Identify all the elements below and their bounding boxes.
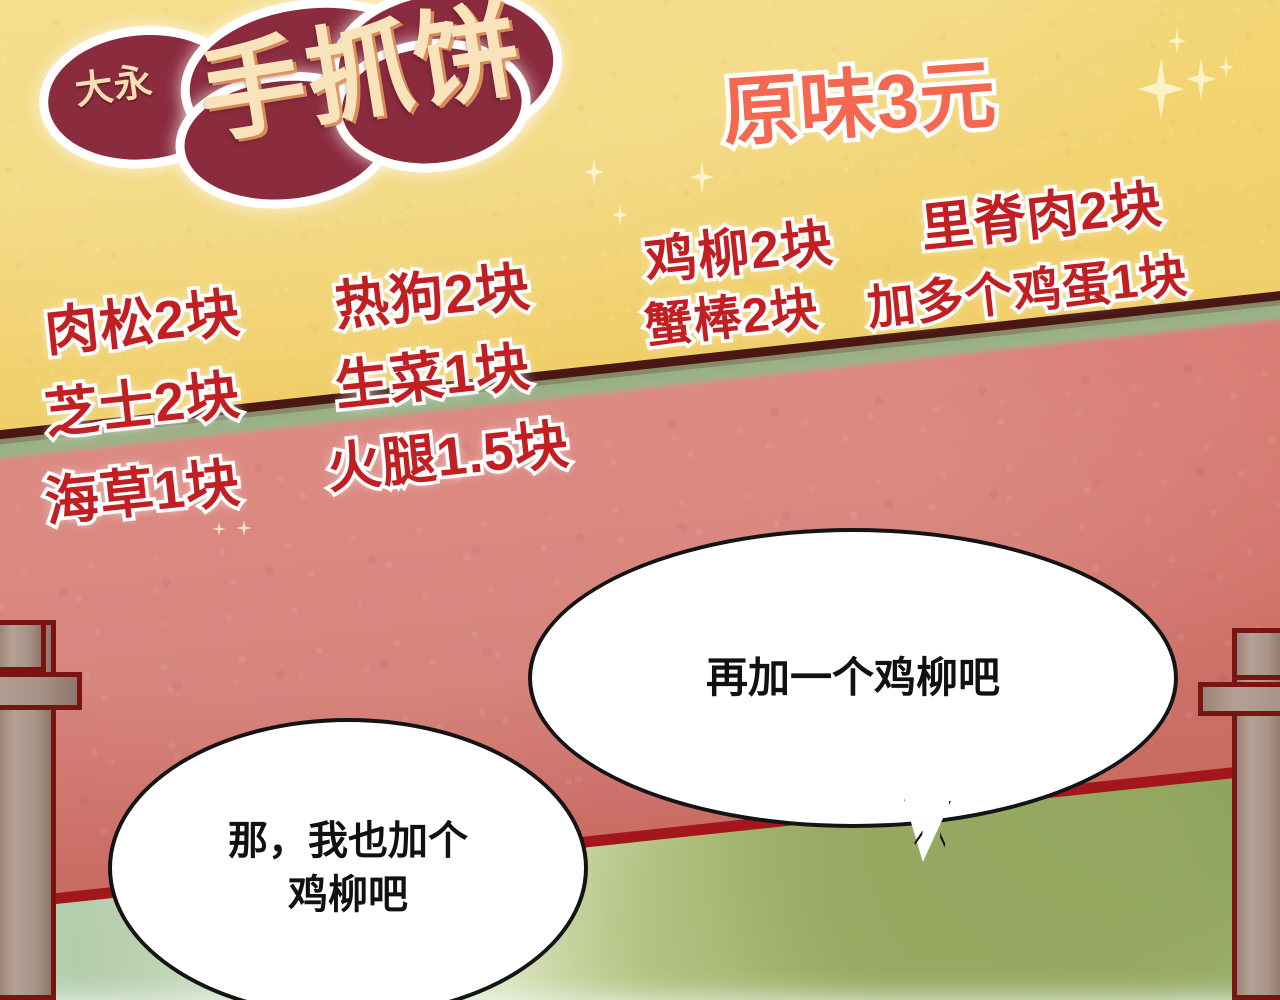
wooden-post-right-cap	[1232, 628, 1280, 680]
speech-bubble-left: 那，我也加个 鸡柳吧	[108, 718, 588, 1000]
speech-bubble-left-line-1: 那，我也加个	[228, 819, 468, 863]
wooden-post-left-arm	[0, 672, 82, 710]
comic-panel: 大永 手抓饼 原味3元 肉松2块 芝士2块 海草1块 热狗2块 生菜1块 火腿1…	[0, 0, 1280, 1000]
wooden-post-right-arm	[1198, 682, 1280, 716]
headline-base-price: 原味3元	[718, 33, 999, 162]
speech-bubble-left-line-2: 鸡柳吧	[288, 873, 408, 917]
logo-brand-small: 大永	[73, 63, 156, 111]
speech-bubble-right: 再加一个鸡柳吧	[528, 528, 1178, 828]
wooden-post-left-cap	[0, 620, 46, 672]
